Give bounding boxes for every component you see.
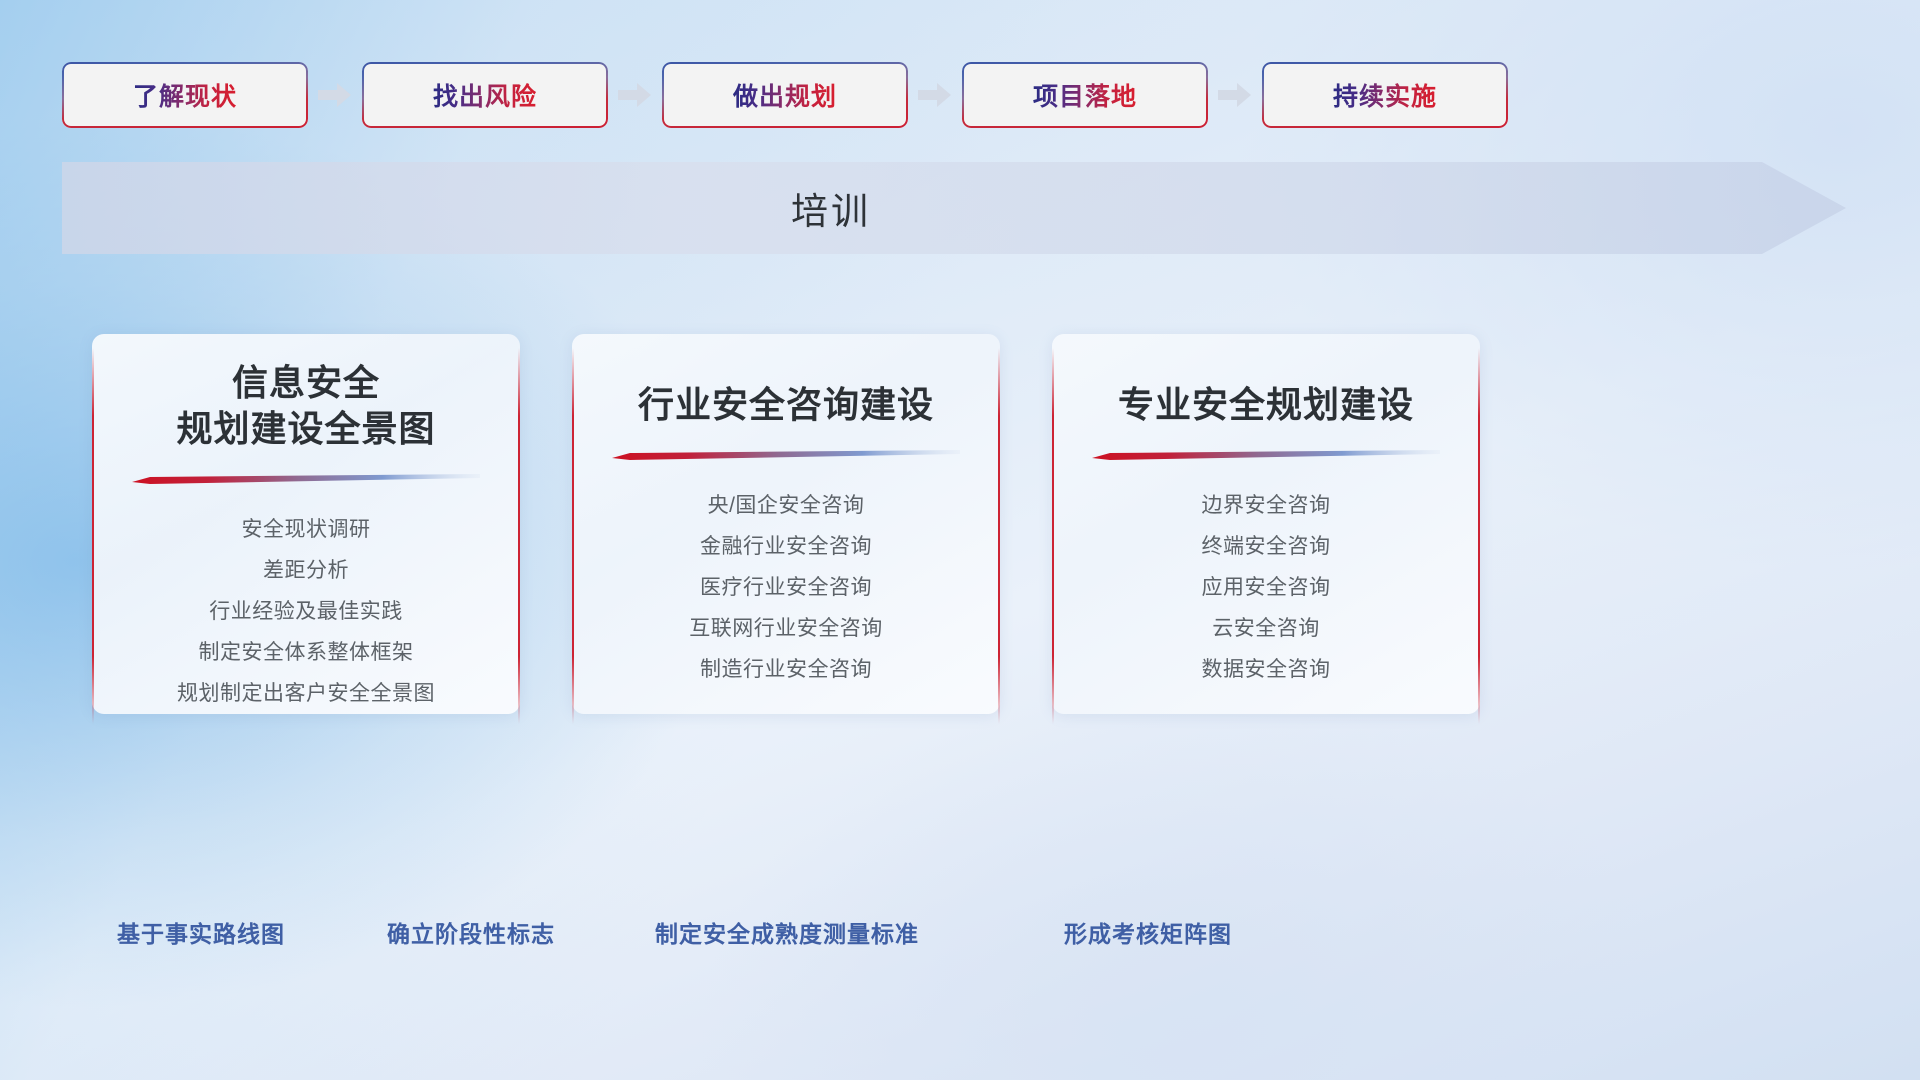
card-security-blueprint[interactable]: 信息安全 规划建设全景图 bbox=[92, 334, 520, 714]
card-professional-planning[interactable]: 专业安全规划建设 bbox=[1052, 334, 1480, 714]
list-item: 央/国企安全咨询 bbox=[590, 486, 982, 527]
caption-row: 基于事实路线图 确立阶段性标志 制定安全成熟度测量标准 形成考核矩阵图 bbox=[0, 915, 1920, 955]
card-title-1: 信息安全 规划建设全景图 bbox=[176, 360, 435, 452]
step-box-1[interactable]: 了解现状 bbox=[62, 62, 308, 128]
step-arrow-icon-2 bbox=[608, 62, 662, 128]
step-box-2[interactable]: 找出风险 bbox=[362, 62, 608, 128]
list-item: 云安全咨询 bbox=[1070, 609, 1462, 650]
list-item: 互联网行业安全咨询 bbox=[590, 609, 982, 650]
step-label-5: 持续实施 bbox=[1333, 77, 1437, 113]
list-item: 制造行业安全咨询 bbox=[590, 650, 982, 691]
step-box-3[interactable]: 做出规划 bbox=[662, 62, 908, 128]
caption-4: 形成考核矩阵图 bbox=[1064, 915, 1232, 949]
step-arrow-icon-1 bbox=[308, 62, 362, 128]
banner-label: 培训 bbox=[62, 162, 1846, 254]
step-box-5[interactable]: 持续实施 bbox=[1262, 62, 1508, 128]
card-title-2: 行业安全咨询建设 bbox=[638, 382, 934, 428]
list-item: 金融行业安全咨询 bbox=[590, 527, 982, 568]
step-label-3: 做出规划 bbox=[733, 77, 837, 113]
card-list-1: 安全现状调研 差距分析 行业经验及最佳实践 制定安全体系整体框架 规划制定出客户… bbox=[110, 510, 502, 715]
caption-2: 确立阶段性标志 bbox=[387, 915, 555, 949]
step-label-4: 项目落地 bbox=[1033, 77, 1137, 113]
list-item: 边界安全咨询 bbox=[1070, 486, 1462, 527]
infographic-canvas: 了解现状 找出风险 做出规划 项目落地 bbox=[0, 0, 1920, 1080]
caption-1: 基于事实路线图 bbox=[117, 915, 285, 949]
list-item: 终端安全咨询 bbox=[1070, 527, 1462, 568]
list-item: 安全现状调研 bbox=[110, 510, 502, 551]
card-divider-2 bbox=[612, 450, 960, 460]
list-item: 医疗行业安全咨询 bbox=[590, 568, 982, 609]
card-industry-consulting[interactable]: 行业安全咨询建设 bbox=[572, 334, 1000, 714]
card-list-3: 边界安全咨询 终端安全咨询 应用安全咨询 云安全咨询 数据安全咨询 bbox=[1070, 486, 1462, 691]
card-group: 信息安全 规划建设全景图 bbox=[92, 334, 1480, 714]
card-title-3: 专业安全规划建设 bbox=[1118, 382, 1414, 428]
list-item: 数据安全咨询 bbox=[1070, 650, 1462, 691]
list-item: 规划制定出客户安全全景图 bbox=[110, 674, 502, 715]
step-box-4[interactable]: 项目落地 bbox=[962, 62, 1208, 128]
step-label-2: 找出风险 bbox=[433, 77, 537, 113]
process-step-row: 了解现状 找出风险 做出规划 项目落地 bbox=[62, 62, 1508, 128]
caption-3: 制定安全成熟度测量标准 bbox=[655, 915, 919, 949]
step-label-1: 了解现状 bbox=[133, 77, 237, 113]
gradient-rule-icon bbox=[1092, 450, 1440, 460]
list-item: 行业经验及最佳实践 bbox=[110, 592, 502, 633]
training-banner: 培训 bbox=[62, 162, 1846, 254]
list-item: 制定安全体系整体框架 bbox=[110, 633, 502, 674]
list-item: 应用安全咨询 bbox=[1070, 568, 1462, 609]
list-item: 差距分析 bbox=[110, 551, 502, 592]
gradient-rule-icon bbox=[612, 450, 960, 460]
card-divider-3 bbox=[1092, 450, 1440, 460]
card-divider-1 bbox=[132, 474, 480, 484]
card-list-2: 央/国企安全咨询 金融行业安全咨询 医疗行业安全咨询 互联网行业安全咨询 制造行… bbox=[590, 486, 982, 691]
gradient-rule-icon bbox=[132, 474, 480, 484]
step-arrow-icon-3 bbox=[908, 62, 962, 128]
step-arrow-icon-4 bbox=[1208, 62, 1262, 128]
